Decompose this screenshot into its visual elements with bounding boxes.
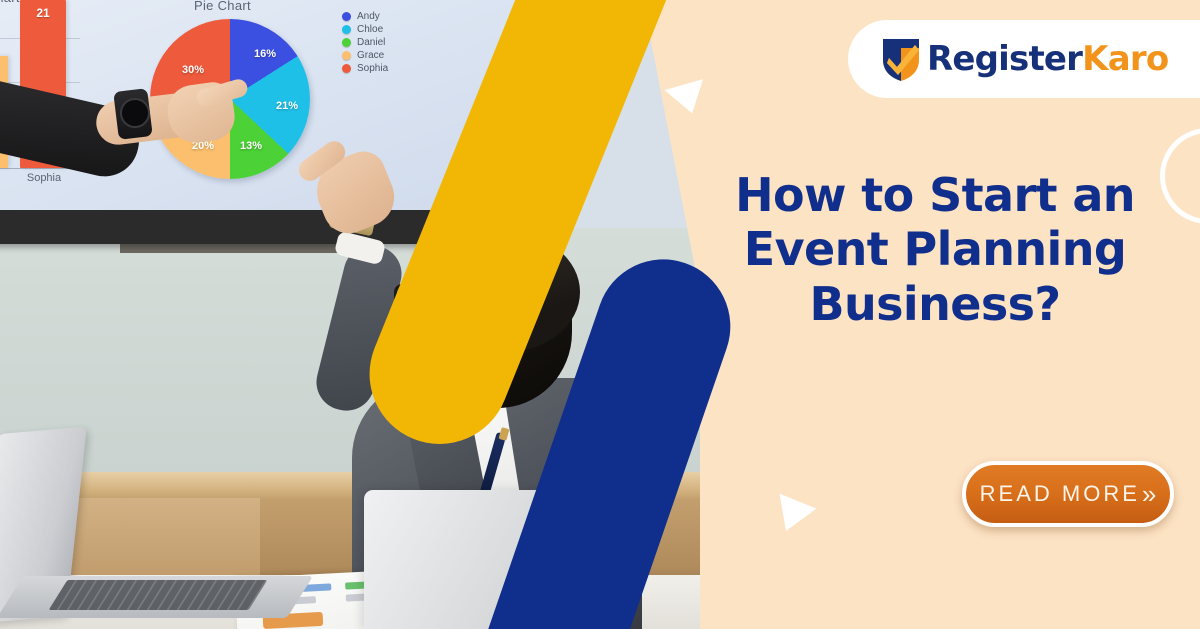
shield-check-icon — [880, 36, 922, 82]
legend-swatch-daniel — [342, 38, 351, 47]
legend-label: Grace — [357, 50, 384, 61]
pie-label-daniel: 13% — [240, 140, 262, 152]
laptop-keyboard — [49, 580, 268, 610]
legend-swatch-andy — [342, 12, 351, 21]
bar-value-label: 14 — [0, 62, 8, 76]
promo-banner: Column Chart 9 14 21 ace Sophia Pie Char… — [0, 0, 1200, 629]
legend-label: Chloe — [357, 24, 383, 35]
brand-wordmark: RegisterKaro — [927, 39, 1168, 79]
headline-line-3: Business? — [700, 277, 1170, 331]
brand-logo[interactable]: RegisterKaro — [848, 20, 1200, 98]
category-label-sophia: Sophia — [12, 172, 76, 184]
legend-item: Grace — [342, 49, 388, 61]
read-more-button[interactable]: READ MORE » — [962, 461, 1174, 527]
legend-swatch-sophia — [342, 64, 351, 73]
brand-name-primary: Register — [927, 39, 1082, 79]
legend-item: Daniel — [342, 36, 388, 48]
headline-line-1: How to Start an — [700, 168, 1170, 222]
legend-item: Andy — [342, 10, 388, 22]
headline-line-2: Event Planning — [700, 222, 1170, 276]
pie-label-sophia: 30% — [182, 64, 204, 76]
pie-chart-legend: Andy Chloe Daniel Grace Sophia — [342, 10, 388, 75]
page-title: How to Start an Event Planning Business? — [700, 168, 1170, 331]
brand-name-secondary: Karo — [1082, 39, 1168, 79]
legend-label: Andy — [357, 11, 380, 22]
legend-label: Daniel — [357, 37, 385, 48]
chevron-right-double-icon: » — [1142, 481, 1156, 507]
bar-value-label: 21 — [20, 6, 66, 20]
screen-stand — [120, 244, 360, 253]
pie-label-andy: 16% — [254, 48, 276, 60]
pie-label-chloe: 21% — [276, 100, 298, 112]
legend-item: Chloe — [342, 23, 388, 35]
legend-label: Sophia — [357, 63, 388, 74]
legend-item: Sophia — [342, 62, 388, 74]
pie-chart-title: Pie Chart — [194, 0, 251, 13]
read-more-label: READ MORE — [980, 481, 1140, 507]
legend-swatch-chloe — [342, 25, 351, 34]
legend-swatch-grace — [342, 51, 351, 60]
